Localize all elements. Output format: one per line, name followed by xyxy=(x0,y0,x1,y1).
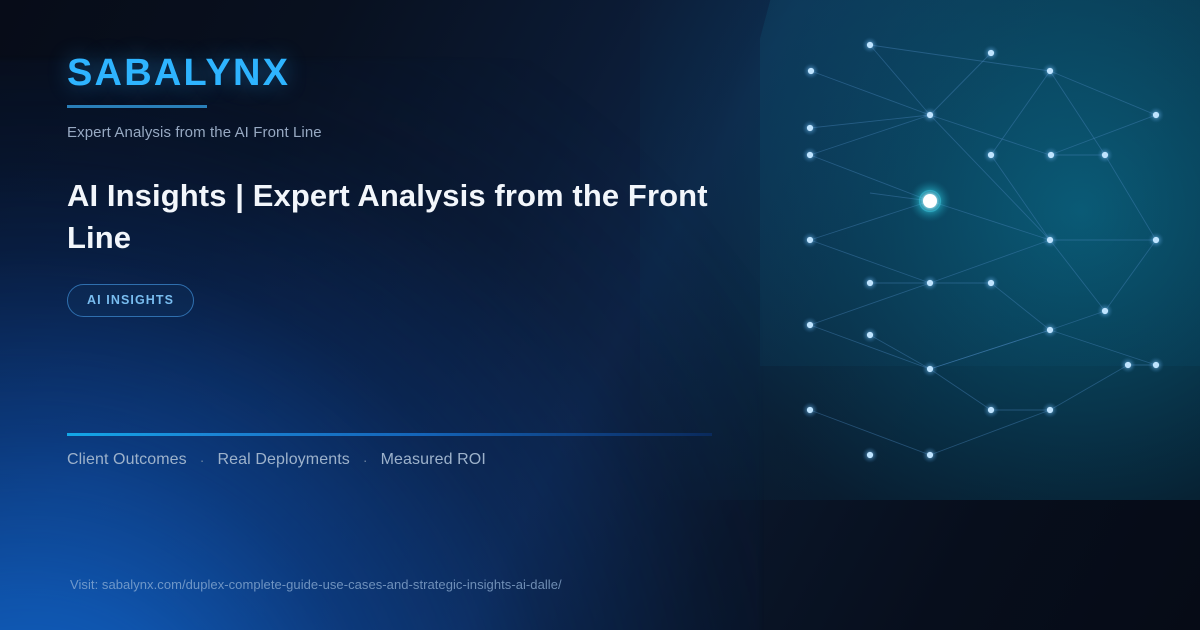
network-link xyxy=(1105,240,1156,311)
neural-network-graphic xyxy=(760,0,1200,630)
network-hub-node xyxy=(923,194,937,208)
network-link xyxy=(930,115,1050,240)
network-link xyxy=(1050,240,1105,311)
network-node xyxy=(807,125,813,131)
network-node xyxy=(1047,68,1053,74)
network-node xyxy=(807,152,813,158)
og-card: SABALYNX Expert Analysis from the AI Fro… xyxy=(0,0,1200,630)
network-link xyxy=(1050,71,1105,155)
feature-item-1: Real Deployments xyxy=(218,451,350,469)
brand-underline xyxy=(67,105,207,108)
network-node xyxy=(867,42,873,48)
network-link xyxy=(810,115,930,128)
network-node xyxy=(807,322,813,328)
network-link xyxy=(1050,71,1156,115)
brand-block: SABALYNX Expert Analysis from the AI Fro… xyxy=(67,54,322,141)
network-link xyxy=(991,71,1050,155)
network-link xyxy=(1050,330,1156,365)
network-link xyxy=(1105,155,1156,240)
feature-list: Client Outcomes · Real Deployments · Mea… xyxy=(67,451,486,469)
feature-separator-0: · xyxy=(200,452,205,468)
network-link xyxy=(811,71,930,115)
network-link xyxy=(870,45,1050,71)
network-node xyxy=(1153,112,1159,118)
network-node xyxy=(927,366,933,372)
category-badge: AI INSIGHTS xyxy=(67,284,194,317)
network-node xyxy=(1048,152,1054,158)
feature-separator-1: · xyxy=(363,452,368,468)
network-link xyxy=(930,369,991,410)
network-node xyxy=(1102,152,1108,158)
network-node xyxy=(867,280,873,286)
network-node xyxy=(1153,237,1159,243)
page-title: AI Insights | Expert Analysis from the F… xyxy=(67,175,767,260)
network-node xyxy=(988,152,994,158)
network-link xyxy=(991,283,1050,330)
network-link xyxy=(930,53,991,115)
network-node xyxy=(808,68,814,74)
network-node xyxy=(1047,327,1053,333)
visit-url: Visit: sabalynx.com/duplex-complete-guid… xyxy=(70,577,562,592)
network-node xyxy=(1125,362,1131,368)
network-link xyxy=(810,115,930,155)
section-divider xyxy=(67,433,712,436)
network-node xyxy=(988,407,994,413)
network-link xyxy=(1050,311,1105,330)
network-node xyxy=(807,237,813,243)
network-node xyxy=(927,452,933,458)
network-node xyxy=(807,407,813,413)
network-link xyxy=(991,155,1050,240)
network-node xyxy=(988,50,994,56)
content-column: SABALYNX Expert Analysis from the AI Fro… xyxy=(0,0,780,630)
brand-tagline: Expert Analysis from the AI Front Line xyxy=(67,124,322,141)
network-node xyxy=(1047,407,1053,413)
network-link xyxy=(930,330,1050,369)
network-node xyxy=(988,280,994,286)
network-link xyxy=(870,45,930,115)
network-node xyxy=(867,332,873,338)
network-node xyxy=(927,112,933,118)
network-link xyxy=(1050,365,1128,410)
feature-item-2: Measured ROI xyxy=(381,451,486,469)
network-node xyxy=(1153,362,1159,368)
network-node xyxy=(927,280,933,286)
network-node xyxy=(1047,237,1053,243)
feature-item-0: Client Outcomes xyxy=(67,451,187,469)
network-node xyxy=(867,452,873,458)
network-link xyxy=(870,335,930,369)
network-node xyxy=(1102,308,1108,314)
brand-name: SABALYNX xyxy=(67,54,322,92)
